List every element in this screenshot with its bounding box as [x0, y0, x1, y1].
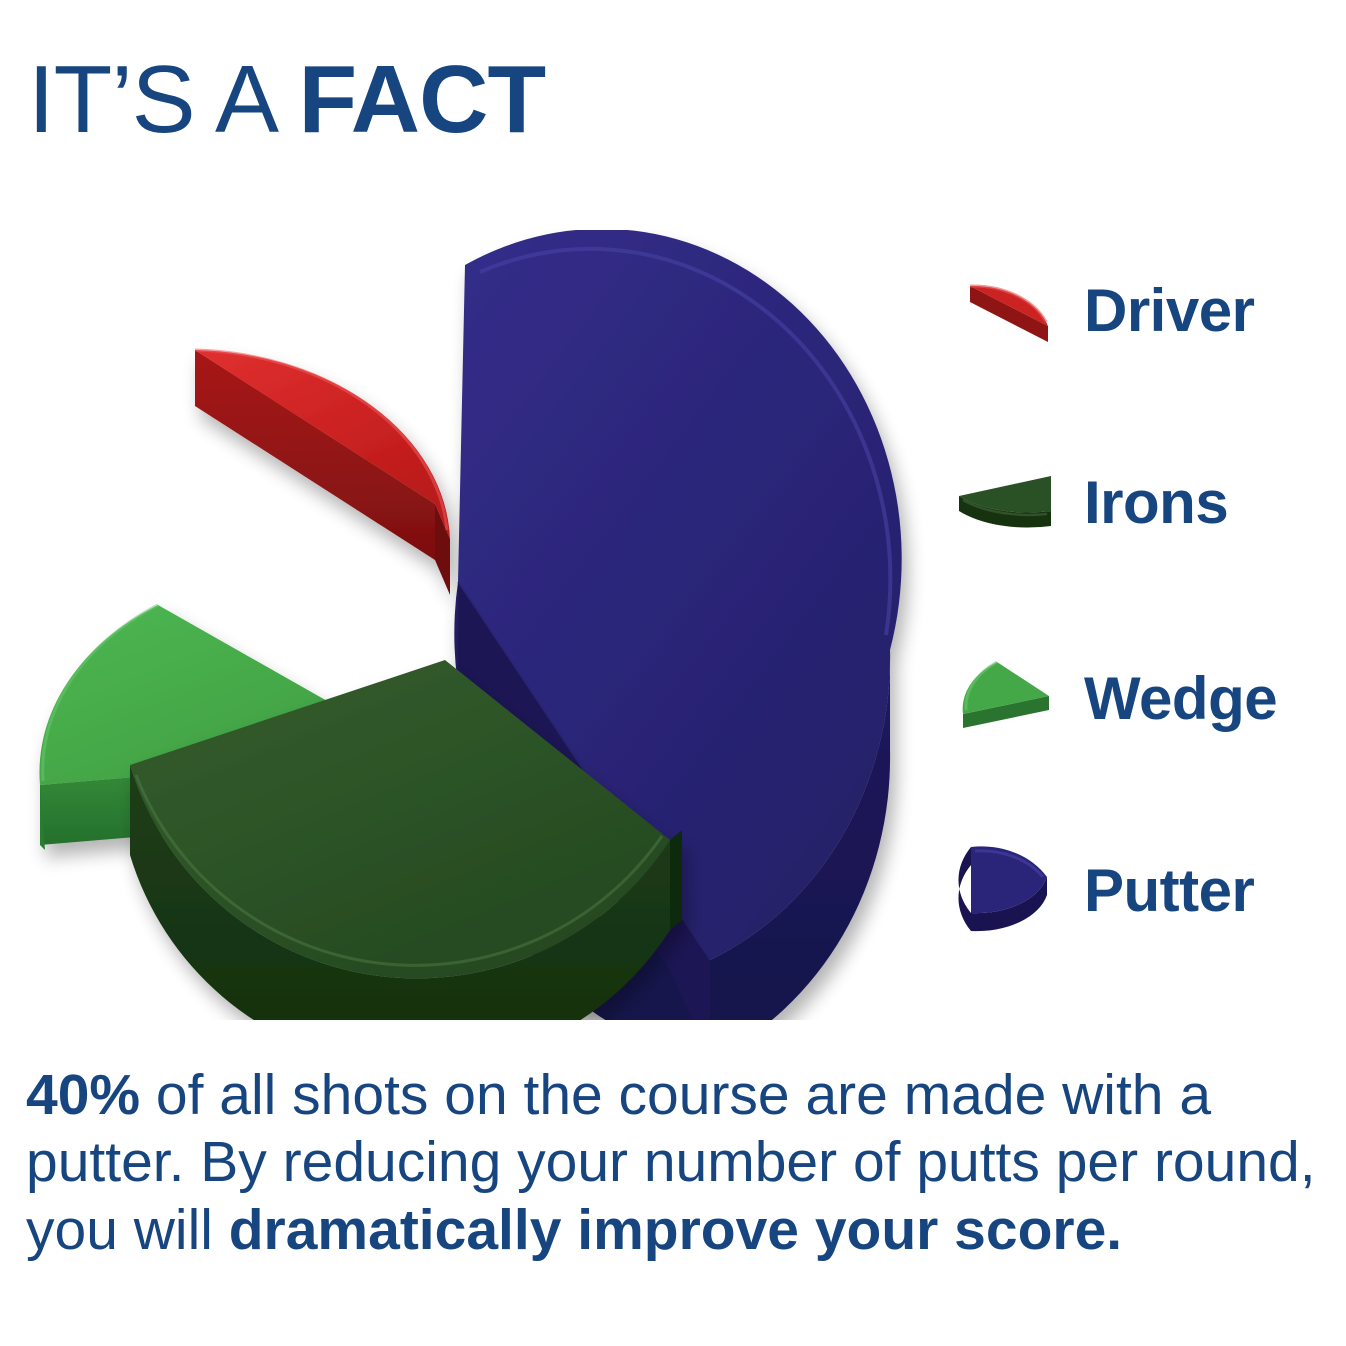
legend-swatch-putter: [950, 835, 1070, 945]
pie-chart: [10, 230, 930, 1020]
legend-label-wedge: Wedge: [1084, 664, 1277, 733]
pie-slice-driver[interactable]: [195, 350, 450, 595]
page-title: IT’S A FACT: [28, 52, 545, 148]
caption-text: 40% of all shots on the course are made …: [26, 1062, 1326, 1264]
infographic-page: IT’S A FACT: [0, 0, 1346, 1346]
legend-item-putter[interactable]: Putter: [950, 830, 1340, 950]
pie-wedge-icon: [960, 264, 1060, 356]
pie-wedge-icon: [957, 652, 1063, 744]
pie-wedge-icon: [957, 835, 1063, 945]
legend-swatch-driver: [950, 255, 1070, 365]
title-prefix: IT’S A: [28, 46, 298, 153]
caption-stat: 40%: [26, 1063, 140, 1127]
pie-chart-svg: [10, 230, 930, 1020]
legend-swatch-wedge: [950, 643, 1070, 753]
legend-item-wedge[interactable]: Wedge: [950, 638, 1340, 758]
legend-label-driver: Driver: [1084, 276, 1254, 345]
legend-item-irons[interactable]: Irons: [950, 442, 1340, 562]
pie-wedge-icon: [955, 456, 1065, 548]
legend-label-irons: Irons: [1084, 468, 1228, 537]
legend-item-driver[interactable]: Driver: [950, 250, 1340, 370]
title-emphasis: FACT: [298, 46, 545, 153]
legend-swatch-irons: [950, 447, 1070, 557]
legend-label-putter: Putter: [1084, 856, 1254, 925]
chart-legend: Driver Irons Wedge: [950, 250, 1340, 950]
caption-emphasis: dramatically improve your score.: [229, 1198, 1122, 1262]
